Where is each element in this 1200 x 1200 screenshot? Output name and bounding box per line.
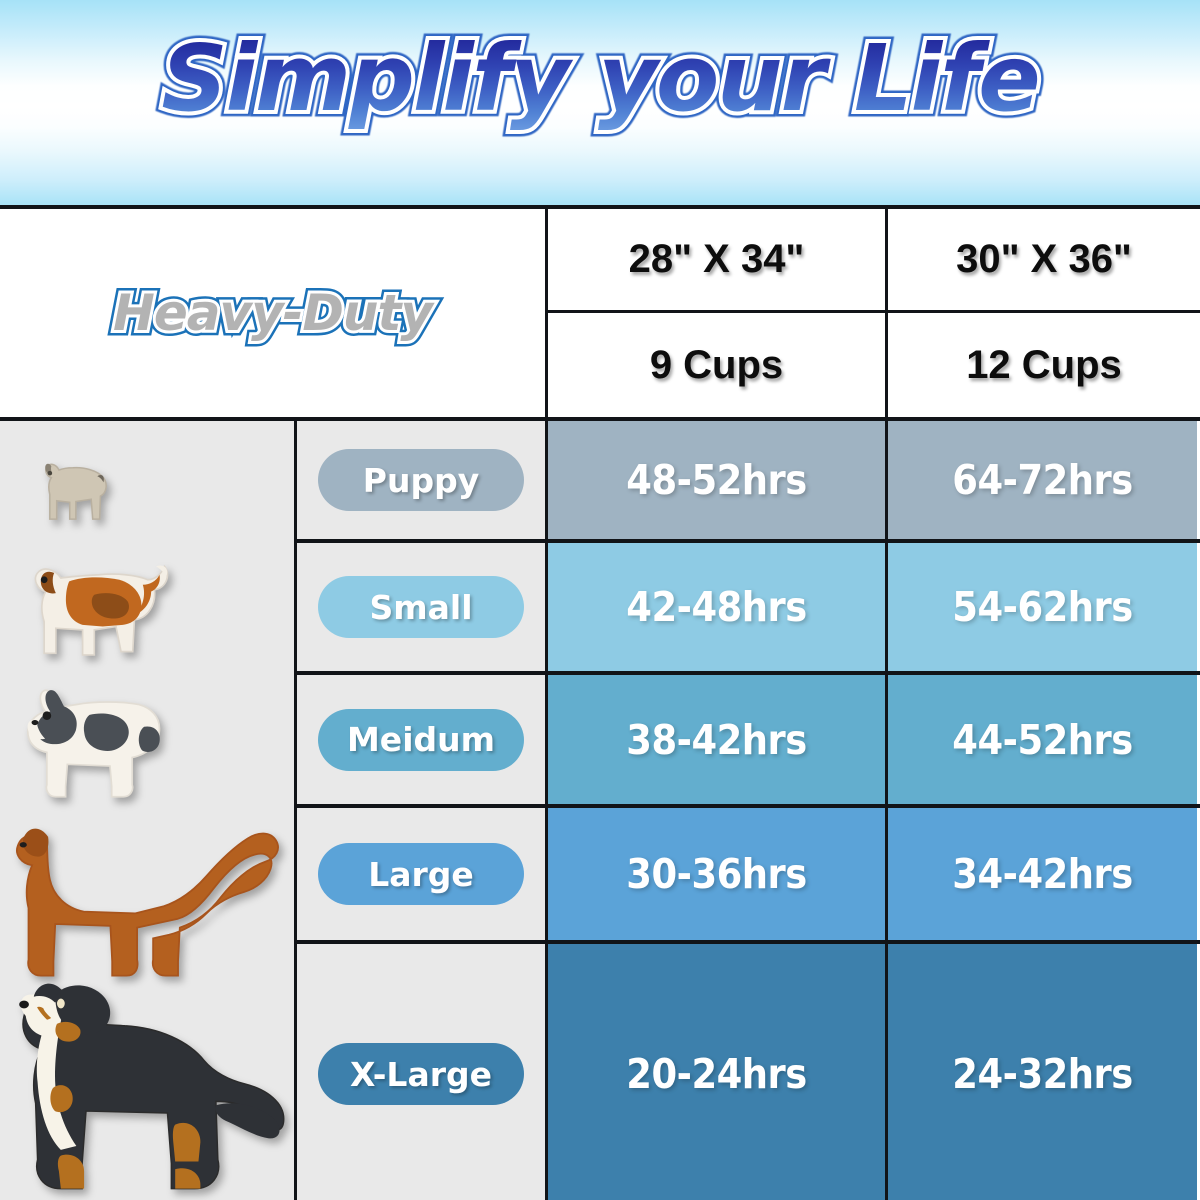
duration-cell-small-col2: 54-62hrs xyxy=(885,543,1197,671)
duration-cell-large-col1: 30-36hrs xyxy=(545,808,885,940)
row-label-cell: Small xyxy=(297,543,545,671)
column-capacity-1: 9 Cups xyxy=(548,313,885,417)
column-size-2: 30" X 36" xyxy=(888,209,1200,313)
title-fill-layer: Simplify your Life xyxy=(0,20,1200,138)
row-label-cell: Large xyxy=(297,808,545,940)
column-size-1: 28" X 34" xyxy=(548,209,885,313)
golden-retriever-icon xyxy=(2,803,290,981)
row-label-cell: Puppy xyxy=(297,421,545,539)
brand-fill-layer: Heavy-Duty xyxy=(38,276,508,350)
brand-cell: Heavy-Duty Heavy-Duty Heavy-Duty xyxy=(0,209,545,417)
size-chart-table: Heavy-Duty Heavy-Duty Heavy-Duty 28" X 3… xyxy=(0,205,1200,1200)
dog-illustration-column xyxy=(0,421,297,1200)
row-label-cell: Meidum xyxy=(297,675,545,804)
duration-cell-xlarge-col1: 20-24hrs xyxy=(545,944,885,1200)
beagle-dog-icon xyxy=(22,553,190,665)
size-rows: Puppy 48-52hrs 64-72hrs Small 42-48hrs 5… xyxy=(297,421,1200,1200)
table-row: Small 42-48hrs 54-62hrs xyxy=(297,543,1200,675)
duration-cell-large-col2: 34-42hrs xyxy=(885,808,1197,940)
duration-cell-xlarge-col2: 24-32hrs xyxy=(885,944,1197,1200)
size-pill-large[interactable]: Large xyxy=(318,843,524,905)
size-pill-xlarge[interactable]: X-Large xyxy=(318,1043,524,1105)
infographic-page: Simplify your Life Simplify your Life Si… xyxy=(0,0,1200,1200)
table-row: Puppy 48-52hrs 64-72hrs xyxy=(297,421,1200,543)
size-pill-medium[interactable]: Meidum xyxy=(318,709,524,771)
bernese-mountain-dog-icon xyxy=(0,956,297,1200)
banner-title: Simplify your Life Simplify your Life Si… xyxy=(0,20,1200,160)
banner: Simplify your Life Simplify your Life Si… xyxy=(0,0,1200,205)
duration-cell-medium-col1: 38-42hrs xyxy=(545,675,885,804)
table-header: Heavy-Duty Heavy-Duty Heavy-Duty 28" X 3… xyxy=(0,209,1200,417)
column-header-1: 28" X 34" 9 Cups xyxy=(545,209,885,417)
row-label-cell: X-Large xyxy=(297,944,545,1200)
duration-cell-medium-col2: 44-52hrs xyxy=(885,675,1197,804)
pug-dog-icon xyxy=(36,453,128,527)
table-row: X-Large 20-24hrs 24-32hrs xyxy=(297,944,1200,1200)
duration-cell-puppy-col2: 64-72hrs xyxy=(885,421,1197,539)
table-row: Large 30-36hrs 34-42hrs xyxy=(297,808,1200,944)
table-row: Meidum 38-42hrs 44-52hrs xyxy=(297,675,1200,808)
column-capacity-2: 12 Cups xyxy=(888,313,1200,417)
duration-cell-puppy-col1: 48-52hrs xyxy=(545,421,885,539)
size-pill-small[interactable]: Small xyxy=(318,576,524,638)
duration-cell-small-col1: 42-48hrs xyxy=(545,543,885,671)
table-body: Puppy 48-52hrs 64-72hrs Small 42-48hrs 5… xyxy=(0,417,1200,1200)
french-bulldog-icon xyxy=(14,679,206,807)
size-pill-puppy[interactable]: Puppy xyxy=(318,449,524,511)
column-header-2: 30" X 36" 12 Cups xyxy=(885,209,1200,417)
